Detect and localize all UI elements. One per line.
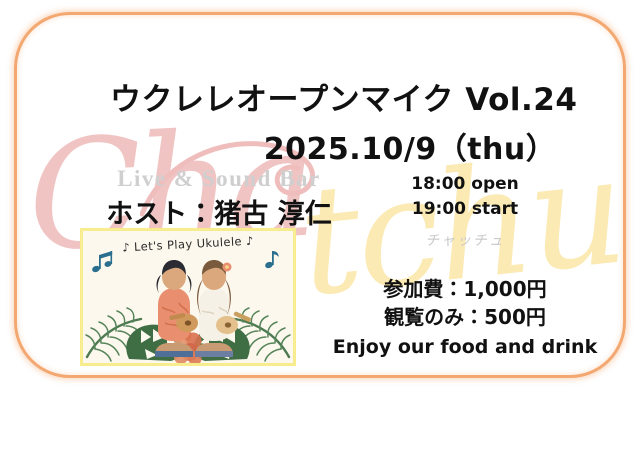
page-title: ウクレレオープンマイク Vol.24 — [110, 74, 530, 119]
event-date: 2025.10/9（thu） — [230, 124, 590, 168]
tagline: Enjoy our food and drink — [320, 336, 610, 358]
music-note-icon-right — [264, 251, 278, 269]
fee-list: 参加費：1,000円 観覧のみ：500円 — [330, 275, 600, 331]
two-people-playing-ukulele-illustration — [83, 231, 293, 363]
ukulele-illustration-card: ♪ Let's Play Ukulele ♪ — [80, 228, 296, 366]
spectator-fee: 観覧のみ：500円 — [330, 303, 600, 331]
schedule-times: 18:00 open 19:00 start — [330, 172, 600, 222]
music-note-icon — [91, 251, 112, 273]
flyer-poster: Cha tchu ウクレレオープンマイク Vol.24 2025.10/9（th… — [0, 0, 640, 452]
venue-name-katakana: チャッチュ — [330, 230, 600, 250]
host-name: ホスト：猪古 淳仁 — [74, 192, 364, 231]
venue-name-english: Live & Sound Bar — [74, 166, 364, 192]
open-time: 18:00 open — [330, 172, 600, 197]
start-time: 19:00 start — [330, 197, 600, 222]
participation-fee: 参加費：1,000円 — [330, 275, 600, 303]
